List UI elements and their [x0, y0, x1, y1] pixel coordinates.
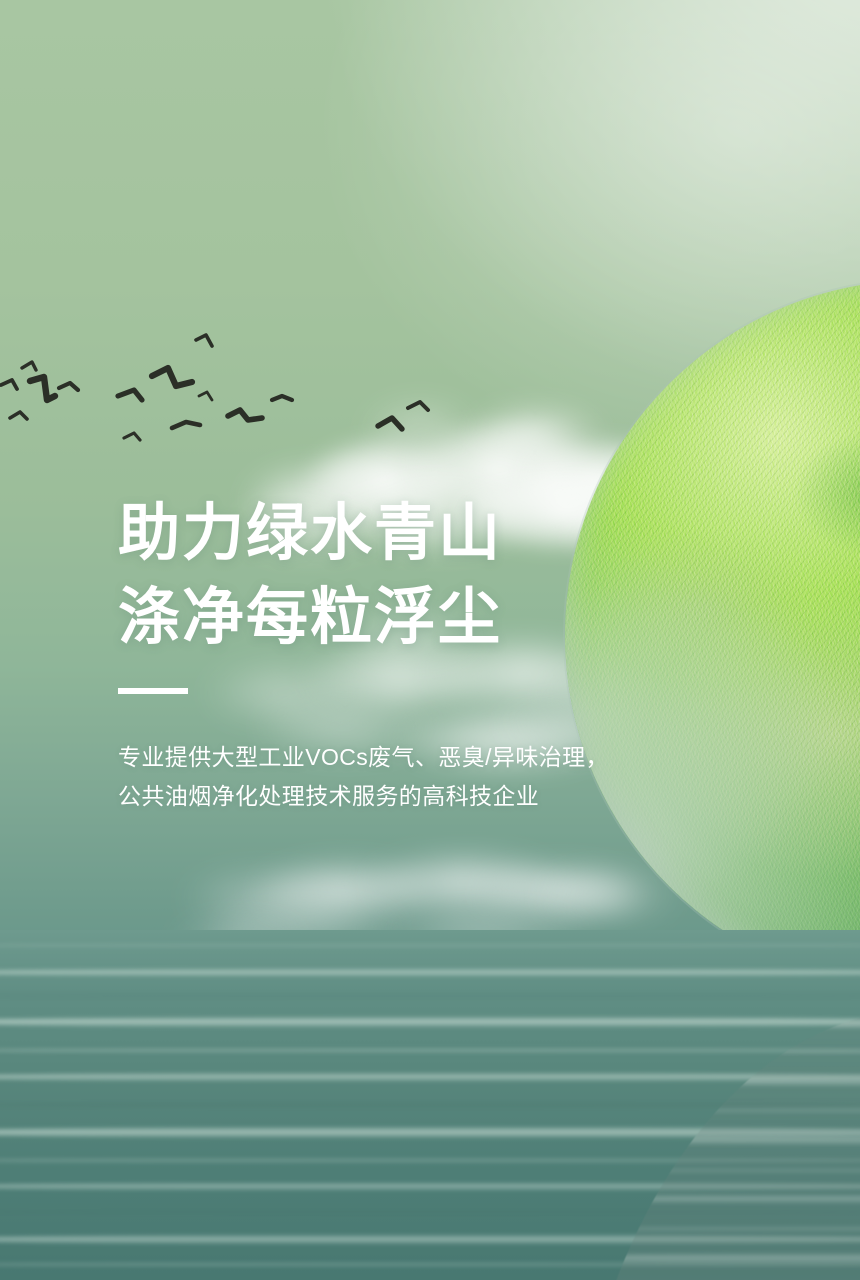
water-ripple-band	[0, 1210, 860, 1214]
water-ripple-band	[0, 1234, 860, 1245]
banner-content: 助力绿水青山 涤净每粒浮尘 专业提供大型工业VOCs废气、恶臭/异味治理， 公共…	[118, 492, 678, 816]
water-ripple-band	[0, 968, 860, 977]
water-ripple-band	[0, 1126, 860, 1139]
water-ripple-band	[0, 994, 860, 998]
water-ripple-band	[0, 1262, 860, 1267]
water-surface	[0, 930, 860, 1280]
headline-line-1: 助力绿水青山	[118, 492, 678, 576]
water-ripple-band	[0, 1182, 860, 1191]
headline-divider	[118, 688, 188, 694]
water-ripples	[0, 930, 860, 1280]
subtitle-line-1: 专业提供大型工业VOCs废气、恶臭/异味治理，	[118, 738, 678, 777]
water-ripple-band	[0, 1048, 860, 1053]
headline-line-2: 涤净每粒浮尘	[118, 576, 678, 660]
subtitle-line-2: 公共油烟净化处理技术服务的高科技企业	[118, 777, 678, 816]
water-ripple-band	[0, 1102, 860, 1108]
banner-stage: 助力绿水青山 涤净每粒浮尘 专业提供大型工业VOCs废气、恶臭/异味治理， 公共…	[0, 0, 860, 1280]
water-ripple-band	[0, 1016, 860, 1028]
water-ripple-band	[0, 1072, 860, 1082]
water-ripple-band	[0, 944, 860, 947]
water-ripple-band	[0, 1158, 860, 1163]
